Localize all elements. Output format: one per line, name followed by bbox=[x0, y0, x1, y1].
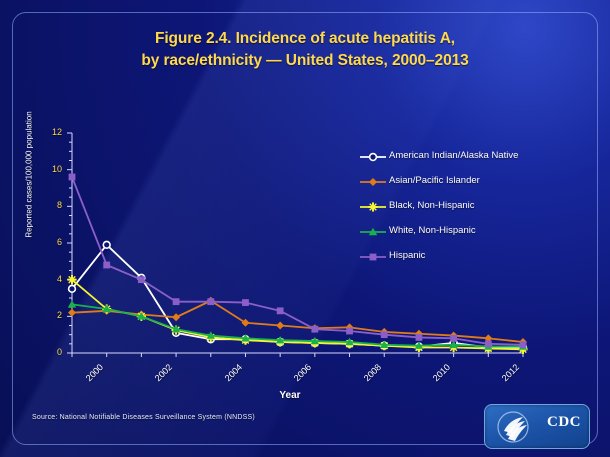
legend-marker-icon bbox=[360, 200, 386, 212]
legend-label: Asian/Pacific Islander bbox=[389, 175, 480, 186]
y-tick-label: 2 bbox=[40, 310, 62, 320]
legend-item-2[interactable]: Black, Non-Hispanic bbox=[360, 193, 560, 218]
legend-label: American Indian/Alaska Native bbox=[389, 150, 518, 161]
cdc-logo: CDC bbox=[484, 404, 590, 449]
legend-marker-icon bbox=[360, 150, 386, 162]
y-tick-label: 8 bbox=[40, 200, 62, 210]
y-axis-label: Reported cases/100,000 population bbox=[25, 100, 34, 250]
legend-label: Hispanic bbox=[389, 250, 425, 261]
cdc-wordmark: CDC bbox=[547, 414, 581, 431]
legend-label: White, Non-Hispanic bbox=[389, 225, 476, 236]
legend-item-3[interactable]: White, Non-Hispanic bbox=[360, 218, 560, 243]
legend-item-0[interactable]: American Indian/Alaska Native bbox=[360, 143, 560, 168]
hhs-seal-icon bbox=[492, 409, 538, 445]
legend-item-4[interactable]: Hispanic bbox=[360, 243, 560, 268]
legend-marker-icon bbox=[360, 250, 386, 262]
x-axis-label: Year bbox=[230, 390, 350, 401]
slide-canvas: Figure 2.4. Incidence of acute hepatitis… bbox=[0, 0, 610, 457]
y-tick-label: 12 bbox=[40, 127, 62, 137]
y-tick-label: 10 bbox=[40, 164, 62, 174]
chart-legend: American Indian/Alaska NativeAsian/Pacif… bbox=[360, 143, 560, 268]
legend-item-1[interactable]: Asian/Pacific Islander bbox=[360, 168, 560, 193]
source-note: Source: National Notifiable Diseases Sur… bbox=[32, 414, 255, 421]
y-tick-label: 0 bbox=[40, 347, 62, 357]
y-tick-label: 6 bbox=[40, 237, 62, 247]
legend-label: Black, Non-Hispanic bbox=[389, 200, 475, 211]
y-tick-label: 4 bbox=[40, 274, 62, 284]
legend-marker-icon bbox=[360, 225, 386, 237]
legend-marker-icon bbox=[360, 175, 386, 187]
